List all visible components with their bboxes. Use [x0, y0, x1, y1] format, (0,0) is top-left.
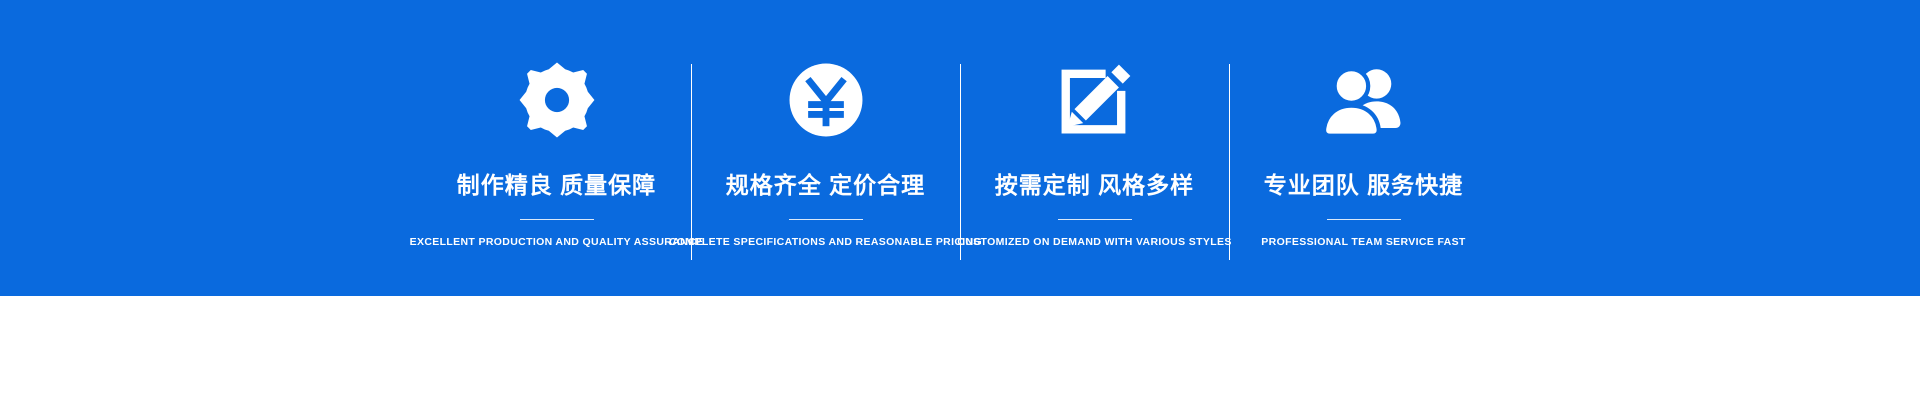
feature-subtitle: PROFESSIONAL TEAM SERVICE FAST — [1261, 237, 1465, 248]
feature-item-pricing[interactable]: 规格齐全 定价合理 COMPLETE SPECIFICATIONS AND RE… — [691, 0, 960, 296]
gear-icon — [518, 52, 596, 148]
feature-title: 规格齐全 定价合理 — [726, 174, 925, 197]
page-bottom-strip — [0, 296, 1920, 401]
feature-item-quality[interactable]: 制作精良 质量保障 EXCELLENT PRODUCTION AND QUALI… — [422, 0, 691, 296]
feature-list: 制作精良 质量保障 EXCELLENT PRODUCTION AND QUALI… — [0, 0, 1920, 296]
title-divider — [1058, 219, 1132, 220]
feature-title: 专业团队 服务快捷 — [1264, 174, 1463, 197]
feature-title: 制作精良 质量保障 — [457, 174, 656, 197]
title-divider — [789, 219, 863, 220]
feature-subtitle: CUSTOMIZED ON DEMAND WITH VARIOUS STYLES — [957, 237, 1231, 248]
feature-item-team[interactable]: 专业团队 服务快捷 PROFESSIONAL TEAM SERVICE FAST — [1229, 0, 1498, 296]
feature-banner: 制作精良 质量保障 EXCELLENT PRODUCTION AND QUALI… — [0, 0, 1920, 296]
feature-title: 按需定制 风格多样 — [995, 174, 1194, 197]
title-divider — [520, 219, 594, 220]
edit-square-icon — [1057, 52, 1133, 148]
feature-item-customization[interactable]: 按需定制 风格多样 CUSTOMIZED ON DEMAND WITH VARI… — [960, 0, 1229, 296]
yen-circle-icon — [788, 52, 864, 148]
team-people-icon — [1322, 52, 1406, 148]
feature-subtitle: EXCELLENT PRODUCTION AND QUALITY ASSURAN… — [410, 237, 704, 248]
title-divider — [1327, 219, 1401, 220]
feature-subtitle: COMPLETE SPECIFICATIONS AND REASONABLE P… — [669, 237, 982, 248]
